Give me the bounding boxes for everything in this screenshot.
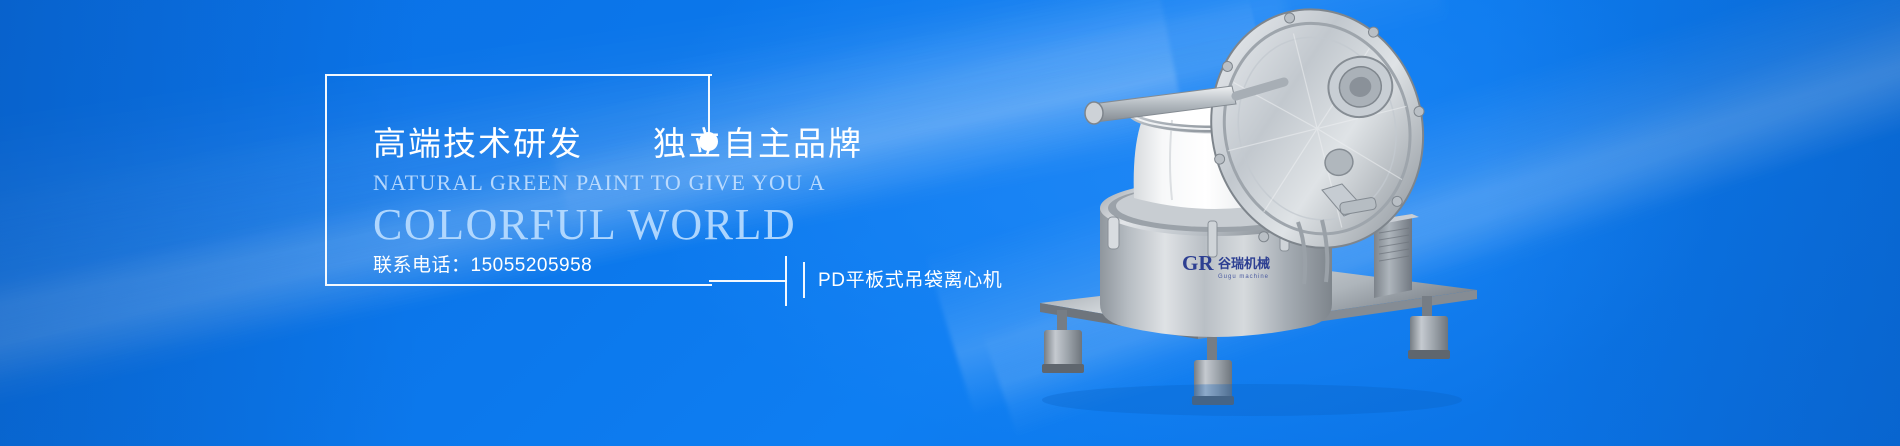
headline: 高端技术研发独立自主品牌 [373, 117, 863, 165]
machine-shadow [1042, 384, 1462, 416]
contact-phone: 联系电话：15055205958 [373, 250, 592, 277]
headline-left-text: 高端技术研发 [373, 125, 583, 162]
label-tick-short [803, 262, 805, 298]
product-photo-centrifuge: GR 谷瑞机械 Gugu machine [1022, 8, 1582, 438]
label-tick-long [785, 256, 787, 306]
centrifuge-illustration: GR 谷瑞机械 Gugu machine [1022, 8, 1582, 438]
frame-baseline-extension [709, 280, 787, 282]
subtitle-english: NATURAL GREEN PAINT TO GIVE YOU A [373, 170, 826, 196]
svg-text:谷瑞机械: 谷瑞机械 [1218, 256, 1270, 271]
headline-right-text: 独立自主品牌 [653, 125, 863, 162]
edge-vignette [0, 0, 1900, 446]
svg-text:Gugu machine: Gugu machine [1218, 274, 1269, 280]
product-name-label: PD平板式吊袋离心机 [818, 265, 1002, 292]
promo-banner: 高端技术研发独立自主品牌 NATURAL GREEN PAINT TO GIVE… [0, 0, 1900, 446]
svg-text:GR: GR [1182, 251, 1214, 275]
title-english: COLORFUL WORLD [373, 199, 796, 250]
